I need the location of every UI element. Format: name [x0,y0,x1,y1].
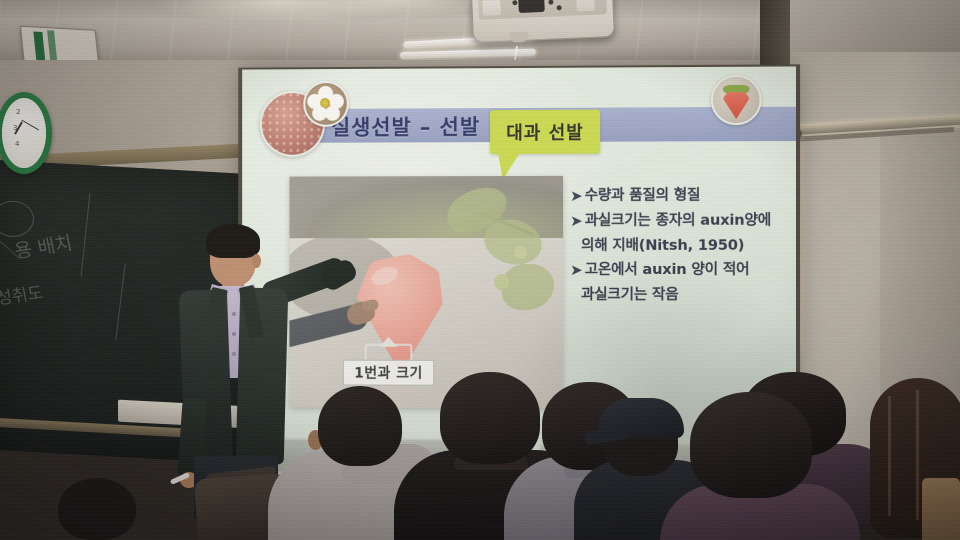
hair-strand-2 [916,390,919,520]
projector-cable [518,0,545,13]
chalk-line-2 [115,263,125,340]
hair-strand-1 [888,396,891,516]
clock-number-2: 2 [16,108,20,116]
audience-head [318,386,402,466]
bullet-marker-icon: ➤ [570,260,583,282]
chair-back [922,478,960,540]
audience-head [690,392,812,498]
bullet-marker-icon: ➤ [570,186,583,208]
chalk-text-line-2: 성취도 [0,278,45,309]
bullet-text-2: 과실크기는 종자의 auxin양에 [585,210,771,232]
bullet-text-1: 수량과 품질의 형질 [585,186,701,208]
strawberry-fruit-icon [711,75,762,126]
bullet-item-2: ➤ 과실크기는 종자의 auxin양에 [570,210,790,232]
clock-face [2,98,46,168]
clock-number-4: 4 [15,140,19,148]
chalk-line-1 [81,193,91,276]
bullet-marker-icon: ➤ [570,211,583,233]
wall-clock: 2 3 4 [0,92,52,174]
projector-vent-left [482,0,501,16]
presenter-shirt-button-3 [232,352,236,356]
presenter-shirt-button-1 [232,312,236,316]
slide-callout: 대과 선발 [490,110,600,154]
projector-lens [510,32,528,43]
presenter-shirt-button-2 [232,332,236,336]
presenter-ear [252,254,261,268]
audience-head [440,372,540,464]
strawberry-body [723,90,749,119]
photo-caption-label: 1번과 크기 [354,363,423,383]
right-wall-ceiling-edge [760,0,960,52]
bullet-item-1: ➤ 수량과 품질의 형질 [570,185,790,207]
flower-petal-3 [325,106,340,121]
projector-vent-right [576,0,595,12]
strawberry-flower-icon [303,81,349,127]
audience-head [58,478,136,540]
photo-caption-box: 1번과 크기 [343,360,434,386]
bullet-text-2-continuation: 의해 지배(Nitsh, 1950) [581,235,790,257]
presenter-hair [206,224,260,258]
classroom-photo: 용 배치 성취도 2 3 4 실생선발 – 선발 [0,0,960,540]
ceiling-projector [471,0,615,43]
slide-callout-label: 대과 선발 [506,119,584,145]
flower-center [320,98,330,108]
